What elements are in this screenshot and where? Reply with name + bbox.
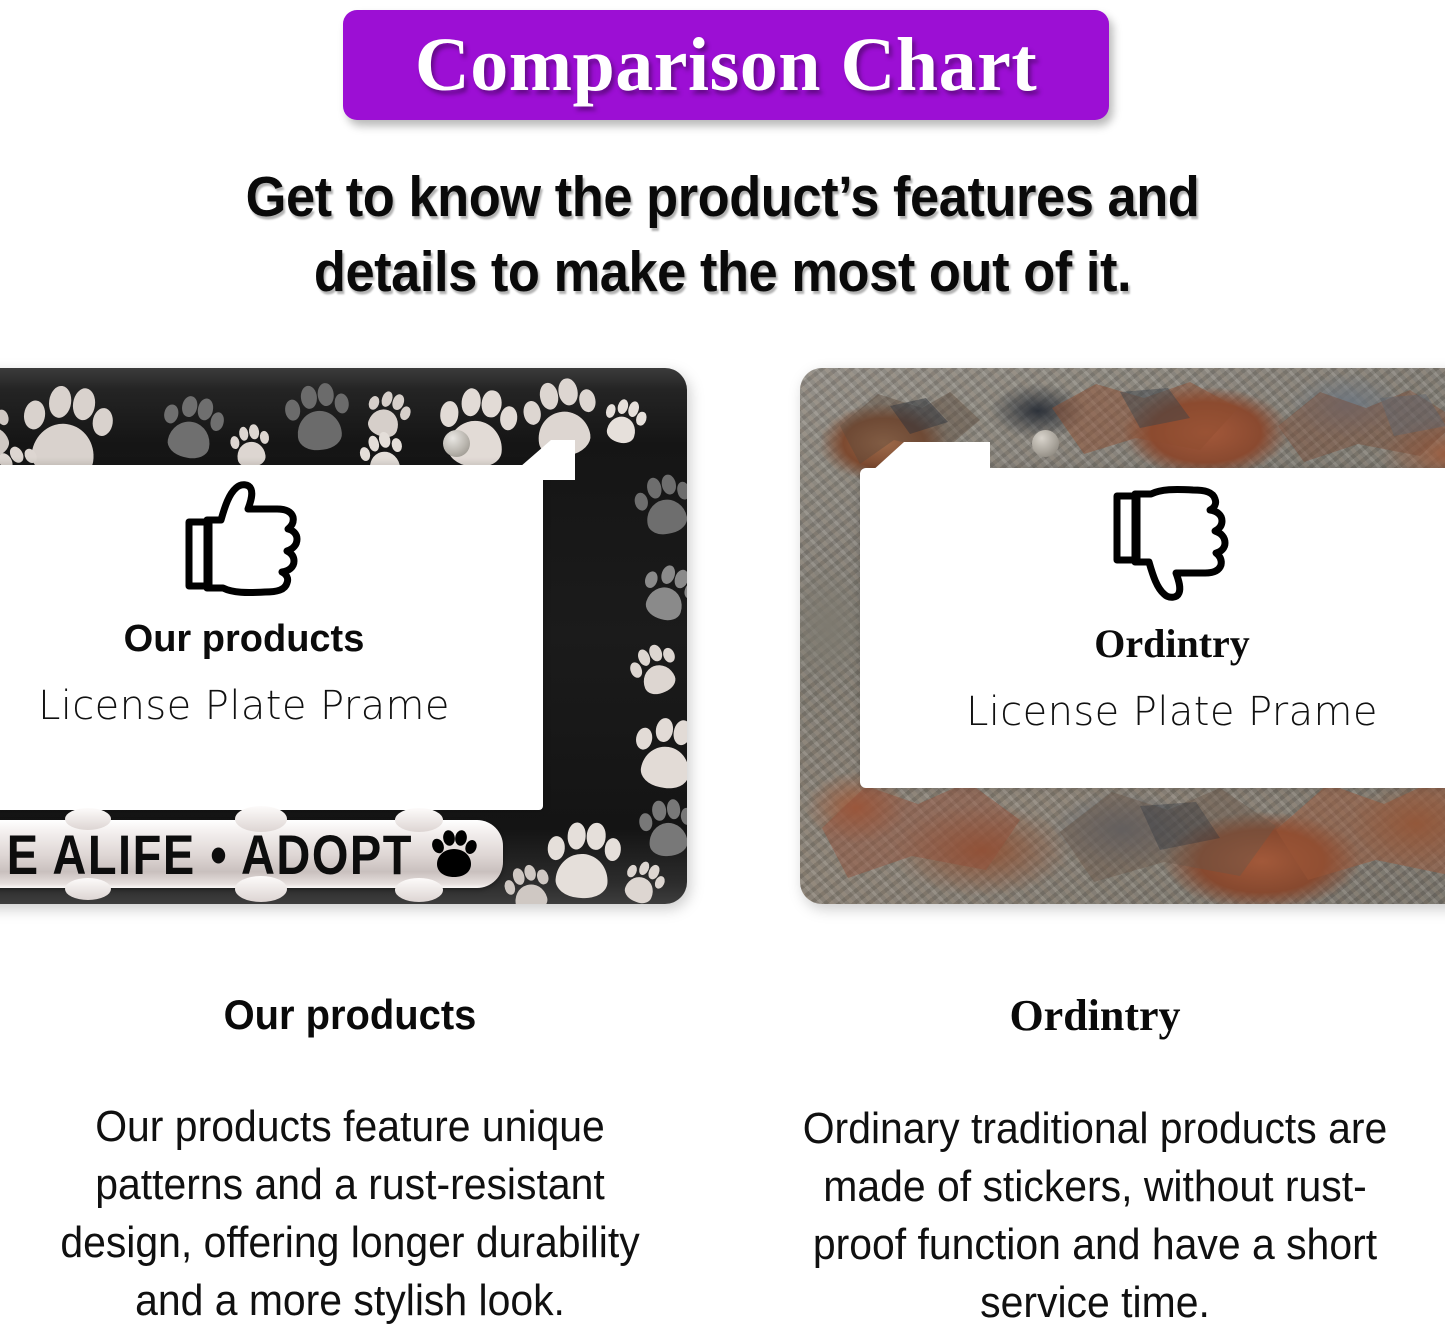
plate-tab (65, 878, 111, 900)
plate-bar-text: E ALIFE • ADOPT (7, 822, 413, 887)
plate-tab (235, 876, 287, 902)
paw-print-icon (227, 421, 273, 470)
rust-flake (1040, 378, 1260, 473)
plate-tab (65, 808, 111, 830)
paw-print-icon (597, 393, 650, 449)
plate-tab (235, 806, 287, 832)
window-corner-notch (860, 442, 990, 482)
paw-print-icon (155, 388, 229, 465)
paw-print-icon (358, 384, 416, 444)
ordinary-product-frame-image: Ordintry License Plate Prame (800, 368, 1445, 904)
mounting-hole (1032, 430, 1059, 457)
paw-print-icon (499, 859, 557, 904)
paw-print-icon (431, 829, 477, 879)
paw-print-icon (282, 379, 355, 456)
paw-print-icon (542, 817, 623, 902)
black-paw-license-plate-frame: E ALIFE • ADOPT Our products License Pla… (0, 368, 687, 904)
ordintry-description: Ordinary traditional products are made o… (770, 1100, 1421, 1332)
paw-print-icon (627, 710, 687, 795)
page-title: Comparison Chart (415, 27, 1037, 103)
rust-flake (1050, 776, 1290, 900)
thumbs-down-icon (1109, 480, 1235, 602)
rust-flake (1270, 382, 1445, 474)
subtitle-line-1: Get to know the product’s features and (58, 160, 1387, 235)
left-window-content: Our products License Plate Prame (0, 480, 543, 726)
paw-print-icon (616, 854, 670, 904)
paw-print-icon (633, 557, 687, 629)
our-products-heading: Our products (18, 994, 683, 1036)
ordintry-heading: Ordintry (745, 994, 1445, 1038)
mounting-hole (443, 430, 470, 457)
window-corner-notch (465, 440, 575, 480)
right-window-subtitle: License Plate Prame (860, 692, 1445, 732)
rusted-license-plate-frame: Ordintry License Plate Prame (800, 368, 1445, 904)
our-products-description: Our products feature unique patterns and… (25, 1098, 676, 1330)
comparison-chart-banner: Comparison Chart (343, 10, 1109, 120)
left-window-subtitle: License Plate Prame (0, 686, 543, 726)
right-window-content: Ordintry License Plate Prame (860, 480, 1445, 732)
paw-print-icon (629, 469, 687, 542)
paw-print-icon (636, 795, 687, 861)
right-window-title: Ordintry (860, 624, 1445, 664)
ordintry-description-column: Ordintry Ordinary traditional products a… (745, 994, 1445, 1332)
paw-print-icon (0, 397, 20, 466)
plate-tab (395, 808, 443, 832)
our-products-description-column: Our products Our products feature unique… (0, 994, 700, 1330)
our-product-frame-image: E ALIFE • ADOPT Our products License Pla… (0, 368, 687, 904)
thumbs-up-icon (181, 480, 307, 598)
paw-print-icon (623, 637, 687, 703)
page-subtitle: Get to know the product’s features and d… (58, 160, 1387, 310)
left-window-title: Our products (0, 620, 543, 658)
plate-tab (395, 878, 443, 902)
subtitle-line-2: details to make the most out of it. (58, 235, 1387, 310)
